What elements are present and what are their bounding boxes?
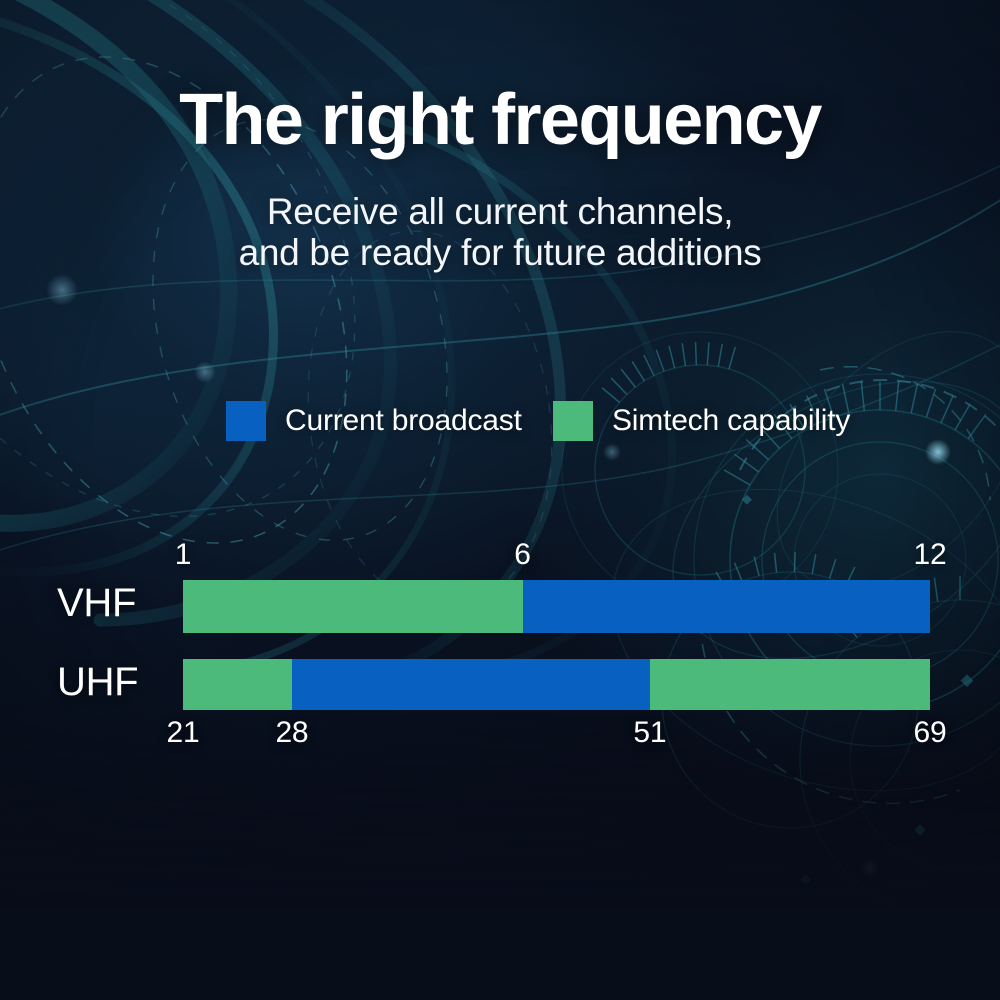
row-label-uhf: UHF [57, 660, 138, 705]
axis-tick-bottom-69: 69 [890, 716, 970, 750]
bar-segment-uhf-simtech-high[interactable] [650, 659, 930, 710]
bar-segment-uhf-simtech-low[interactable] [183, 659, 292, 710]
poster-canvas: The right frequency Receive all current … [0, 0, 1000, 1000]
axis-tick-bottom-21: 21 [143, 716, 223, 750]
axis-tick-bottom-51: 51 [610, 716, 690, 750]
bar-row-uhf[interactable] [183, 659, 930, 710]
frequency-range-chart: 1 6 12 VHF UHF 21 28 51 69 [0, 0, 1000, 1000]
bar-segment-uhf-current[interactable] [292, 659, 650, 710]
bar-segment-vhf-current[interactable] [523, 580, 930, 633]
axis-tick-top-1: 1 [143, 538, 223, 572]
bar-row-vhf[interactable] [183, 580, 930, 633]
axis-tick-top-6: 6 [483, 538, 563, 572]
bar-segment-vhf-simtech[interactable] [183, 580, 523, 633]
row-label-vhf: VHF [57, 581, 136, 626]
axis-tick-top-12: 12 [890, 538, 970, 572]
axis-tick-bottom-28: 28 [252, 716, 332, 750]
